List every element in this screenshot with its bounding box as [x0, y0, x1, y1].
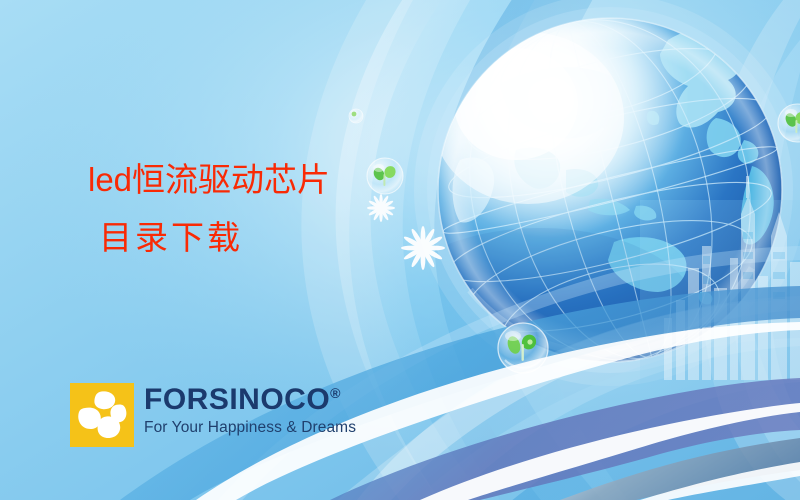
- bubble-with-sprout-bottom: [498, 323, 548, 373]
- company-logo-lockup[interactable]: FORSINOCO® For Your Happiness & Dreams: [70, 383, 356, 447]
- forsinoco-pinwheel-mark: [70, 383, 134, 447]
- bubble-small-top: [349, 109, 363, 123]
- logo-wordmark-group: FORSINOCO® For Your Happiness & Dreams: [144, 383, 356, 437]
- pinwheel-petals-icon: [70, 383, 134, 447]
- brand-name: FORSINOCO®: [144, 385, 356, 415]
- brand-tagline: For Your Happiness & Dreams: [144, 419, 356, 437]
- bubble-with-sprout-left: [367, 158, 403, 194]
- registered-trademark-icon: ®: [330, 385, 340, 401]
- brand-name-text: FORSINOCO: [144, 383, 330, 416]
- promotional-banner: led恒流驱动芯片 目录下载 FORSINOCO®: [0, 0, 800, 500]
